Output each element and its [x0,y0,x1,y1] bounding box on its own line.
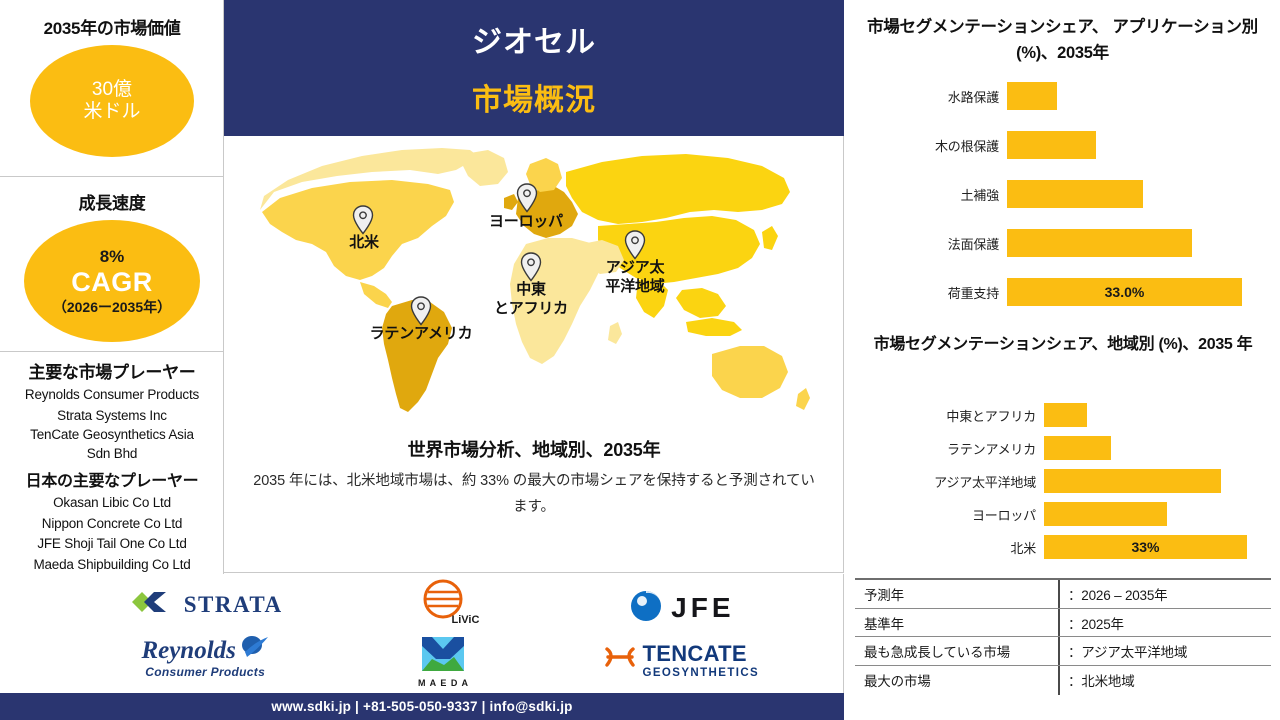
table-cell-value: ：2025年 [1060,609,1271,637]
table-cell-key: 予測年 [855,580,1060,608]
maeda-mark-icon [422,637,464,676]
growth-rate-period: （2026ー2035年） [53,299,171,316]
market-value-section: 2035年の市場価値 30億 米ドル [0,0,224,177]
list-item: Strata Systems Inc [0,406,224,427]
map-label-asia-pacific-line2: 平洋地域 [580,277,690,296]
bar-value: 33.0% [1105,284,1145,300]
growth-rate-section: 成長速度 8% CAGR （2026ー2035年） [0,177,224,352]
map-pin-asia-pacific[interactable] [624,230,646,260]
bar-label: 水路保護 [948,87,999,106]
growth-rate-bubble: 8% CAGR （2026ー2035年） [24,220,200,342]
map-pin-europe[interactable] [516,183,538,213]
list-item: TenCate Geosynthetics Asia [0,426,224,445]
application-chart: 水路保護 木の根保護 土補強 法面保護 荷重支持 33.0% [845,78,1280,318]
bar-row: 中東とアフリカ [1044,403,1087,427]
application-chart-title: 市場セグメンテーションシェア、 アプリケーション別(%)、2035年 [855,14,1270,66]
logo-group-1: STRATA Reynolds Consumer Products [86,588,324,679]
tencate-mark-icon [605,645,635,674]
map-label-middle-east-africa: 中東 とアフリカ [470,280,592,318]
bar-label: 北米 [1010,538,1036,557]
table-cell-key: 最大の市場 [855,666,1060,695]
bar-label: 法面保護 [948,234,999,253]
map-label-europe: ヨーロッパ [466,212,586,231]
table-cell-value: ：北米地域 [1060,666,1271,695]
page-subtitle: 市場概況 [472,75,596,119]
map-label-latin-america: ラテンアメリカ [346,324,496,343]
bar-label: 土補強 [961,185,999,204]
logo-jfe: JFE [629,589,734,628]
key-players-title: 主要な市場プレーヤー [0,358,224,383]
table-row: 基準年 ：2025年 [855,609,1271,638]
region-chart-title: 市場セグメンテーションシェア、地域別 (%)、2035 年 [863,332,1263,357]
logo-reynolds: Reynolds Consumer Products [141,634,268,679]
bar-label: アジア太平洋地域 [934,472,1036,491]
list-item: Reynolds Consumer Products [0,385,224,406]
region-shape-australia [712,346,788,398]
page-title: ジオセル [472,17,596,61]
map-label-asia-pacific-line1: アジア太 [580,258,690,277]
logo-tencate: TENCATE GEOSYNTHETICS [605,641,760,679]
table-row: 最大の市場 ：北米地域 [855,666,1271,695]
header-banner: ジオセル 市場概況 [224,0,844,136]
bar-label: ヨーロッパ [972,505,1036,524]
region-shape-madagascar [608,322,622,344]
bar-label: 荷重支持 [948,283,999,302]
bar [1007,131,1096,159]
map-label-asia-pacific: アジア太 平洋地域 [580,258,690,296]
region-shape-russia [566,154,790,224]
japan-players-title: 日本の主要なプレーヤー [0,467,224,491]
region-shape-greenland [462,150,508,186]
bar [1007,82,1057,110]
bar [1044,403,1087,427]
bar-row: 土補強 [1007,180,1143,208]
bar [1007,229,1192,257]
bar [1007,180,1143,208]
growth-rate-value: 8% [100,247,125,267]
table-cell-value: ：2026 – 2035年 [1060,580,1271,608]
logo-livic: LiViC [423,579,463,624]
logo-group-3: JFE TENCATE GEOSYNTHETICS [563,589,801,679]
list-item: JFE Shoji Tail One Co Ltd [0,534,224,555]
market-value-currency: 米ドル [83,101,140,123]
reynolds-tagline: Consumer Products [145,665,265,679]
bar-row: 荷重支持 33.0% [1007,278,1242,306]
map-panel: 北米 ヨーロッパ アジア太 平洋地域 中東 とアフリカ ラテンアメリカ 世界市場… [224,136,844,573]
jfe-mark-icon [629,589,663,628]
list-item: Nippon Concrete Co Ltd [0,514,224,535]
map-pin-middle-east-africa[interactable] [520,252,542,282]
bar-row: 水路保護 [1007,82,1057,110]
bar-label: ラテンアメリカ [947,439,1036,458]
table-cell-value: ：アジア太平洋地域 [1060,637,1271,665]
key-players-list: Reynolds Consumer Products Strata System… [0,385,224,463]
growth-rate-metric: CAGR [71,267,153,299]
footer-contact[interactable]: www.sdki.jp | +81-505-050-9337 | info@sd… [271,699,572,714]
logo-strip: STRATA Reynolds Consumer Products [0,574,844,693]
region-shape-central-america [360,282,392,308]
tencate-tagline: GEOSYNTHETICS [643,667,760,679]
table-row: 予測年 ：2026 – 2035年 [855,580,1271,609]
bar: 33% [1044,535,1247,559]
summary-table: 予測年 ：2026 – 2035年 基準年 ：2025年 最も急成長している市場… [855,578,1271,693]
bar-row: 法面保護 [1007,229,1192,257]
bar [1044,469,1221,493]
region-shape-indonesia [686,318,742,336]
jfe-wordmark: JFE [671,592,734,624]
map-label-north-america: 北米 [332,233,396,252]
market-value-title: 2035年の市場価値 [0,14,224,39]
bar-row: ラテンアメリカ [1044,436,1111,460]
map-pin-latin-america[interactable] [410,296,432,326]
map-label-mea-line2: とアフリカ [470,299,592,318]
bar-label: 木の根保護 [935,136,999,155]
bar-row: 木の根保護 [1007,131,1096,159]
bar [1044,502,1167,526]
map-caption: 世界市場分析、地域別、2035年 [224,436,844,462]
tencate-wordmark: TENCATE [643,641,747,667]
maeda-wordmark: M A E D A [418,678,469,688]
japan-players-list: Okasan Libic Co Ltd Nippon Concrete Co L… [0,493,224,575]
livic-wordmark: LiViC [451,614,479,626]
logo-strata: STRATA [128,588,283,621]
logo-group-2: LiViC M A E D A [324,579,562,688]
reynolds-wordmark: Reynolds [141,637,235,665]
infographic-page: 2035年の市場価値 30億 米ドル 成長速度 8% CAGR （2026ー20… [0,0,1280,720]
bar-row: アジア太平洋地域 [1044,469,1221,493]
reynolds-swoosh-icon [239,634,269,665]
market-value-amount: 30億 [92,79,132,101]
region-chart: 中東とアフリカ ラテンアメリカ アジア太平洋地域 ヨーロッパ 北米 33% [845,396,1280,566]
map-pin-north-america[interactable] [352,205,374,235]
region-shape-new-zealand [796,388,810,410]
players-section: 主要な市場プレーヤー Reynolds Consumer Products St… [0,352,224,582]
region-shape-japan [762,226,778,250]
bar [1044,436,1111,460]
world-map: 北米 ヨーロッパ アジア太 平洋地域 中東 とアフリカ ラテンアメリカ [224,140,844,440]
list-item: Okasan Libic Co Ltd [0,493,224,514]
map-label-mea-line1: 中東 [470,280,592,299]
footer-bar: www.sdki.jp | +81-505-050-9337 | info@sd… [0,693,844,720]
bar: 33.0% [1007,278,1242,306]
table-row: 最も急成長している市場 ：アジア太平洋地域 [855,637,1271,666]
bar-row: 北米 33% [1044,535,1247,559]
bar-row: ヨーロッパ [1044,502,1167,526]
bar-label: 中東とアフリカ [946,406,1036,425]
strata-mark-icon [128,588,176,621]
strata-wordmark: STRATA [184,592,283,618]
growth-rate-title: 成長速度 [0,189,224,214]
bar-value: 33% [1131,539,1159,555]
map-description: 2035 年には、北米地域市場は、約 33% の最大の市場シェアを保持すると予測… [248,468,820,520]
logo-maeda: M A E D A [418,637,469,688]
list-item: Maeda Shipbuilding Co Ltd [0,555,224,576]
list-item: Sdn Bhd [0,445,224,464]
table-cell-key: 基準年 [855,609,1060,637]
market-value-bubble: 30億 米ドル [30,45,194,157]
table-cell-key: 最も急成長している市場 [855,637,1060,665]
